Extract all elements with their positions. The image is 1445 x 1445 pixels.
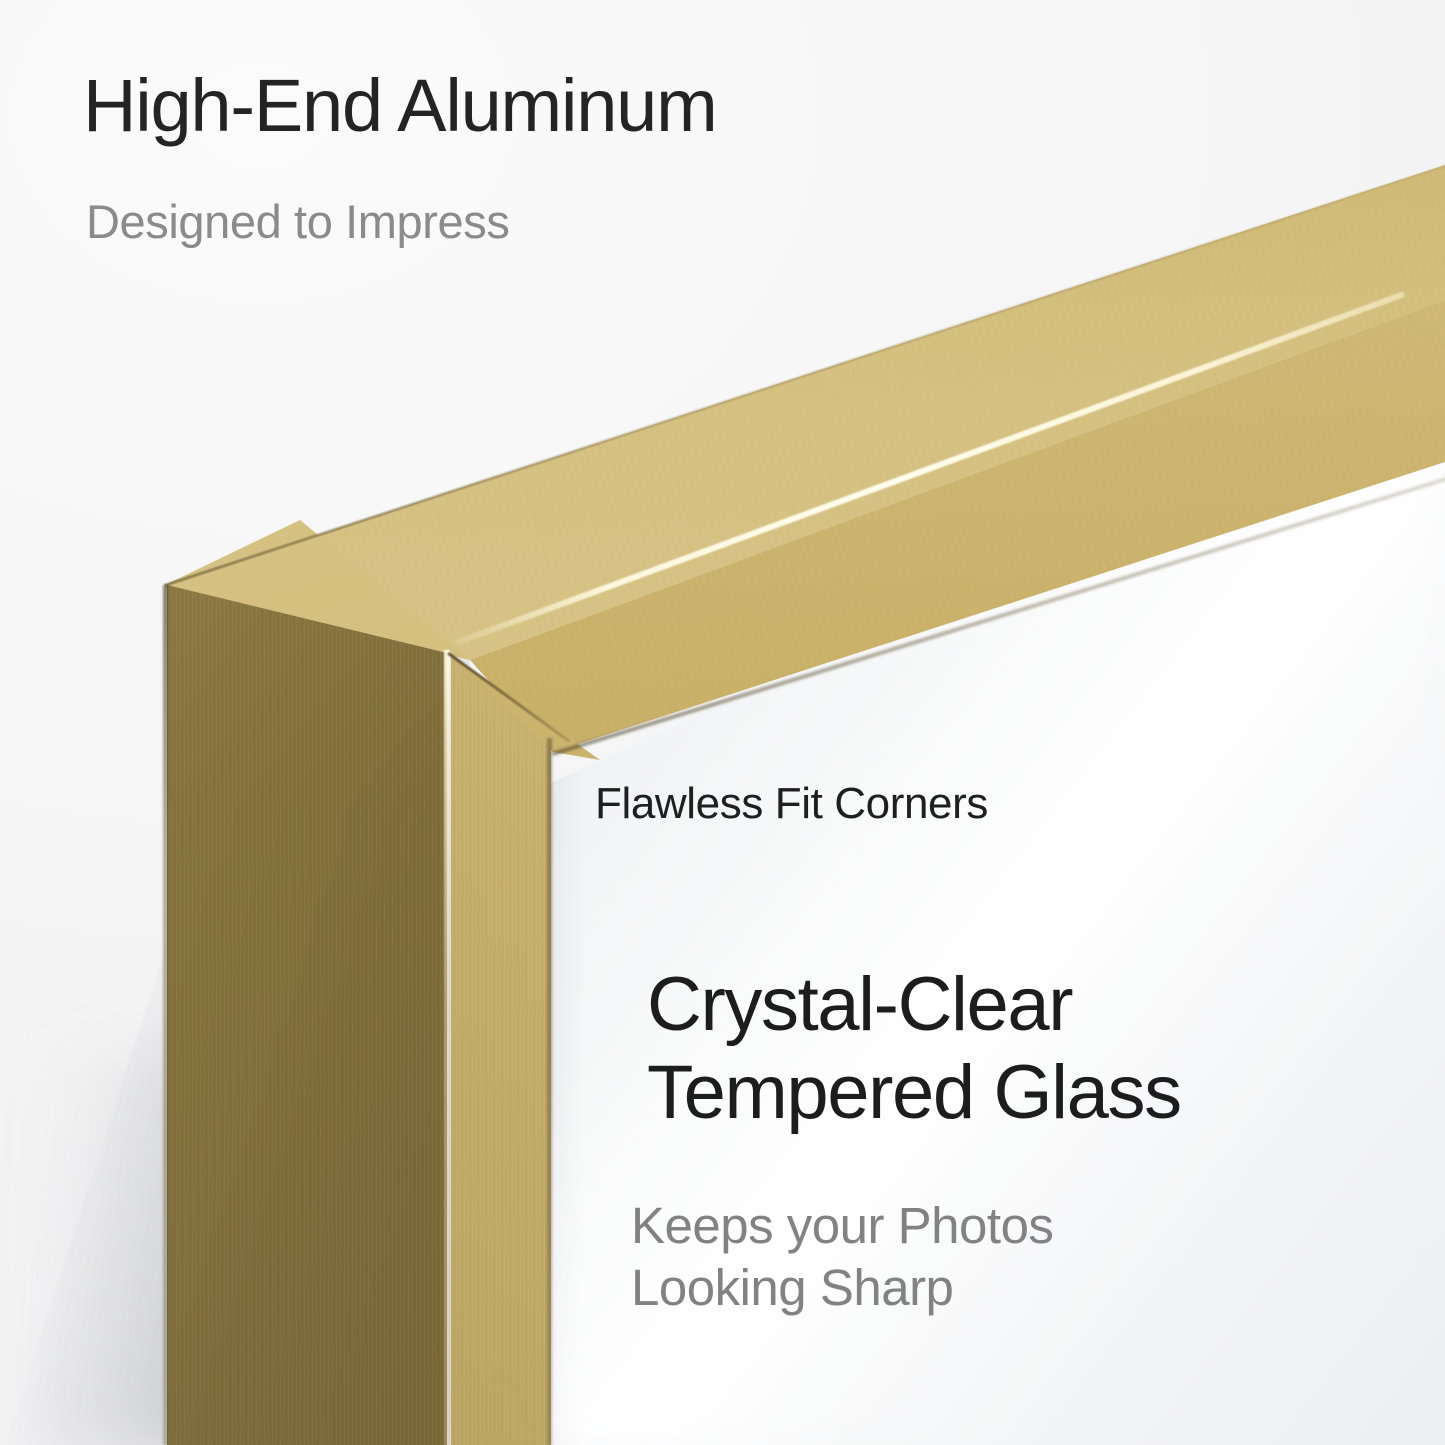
callout-glass-title-line-1: Crystal-Clear <box>647 961 1181 1049</box>
callout-glass-subtitle-line-2: Looking Sharp <box>631 1257 1053 1319</box>
callout-glass-subtitle-line-1: Keeps your Photos <box>631 1195 1053 1257</box>
product-marketing-image: High-End Aluminum Designed to Impress Fl… <box>0 0 1445 1445</box>
callout-glass-title: Crystal-Clear Tempered Glass <box>647 961 1181 1137</box>
callout-glass-title-line-2: Tempered Glass <box>647 1049 1181 1137</box>
callout-glass-subtitle: Keeps your Photos Looking Sharp <box>631 1195 1053 1319</box>
page-subtitle: Designed to Impress <box>86 196 509 248</box>
callout-corner-caption: Flawless Fit Corners <box>595 779 988 829</box>
page-title: High-End Aluminum <box>83 66 717 146</box>
